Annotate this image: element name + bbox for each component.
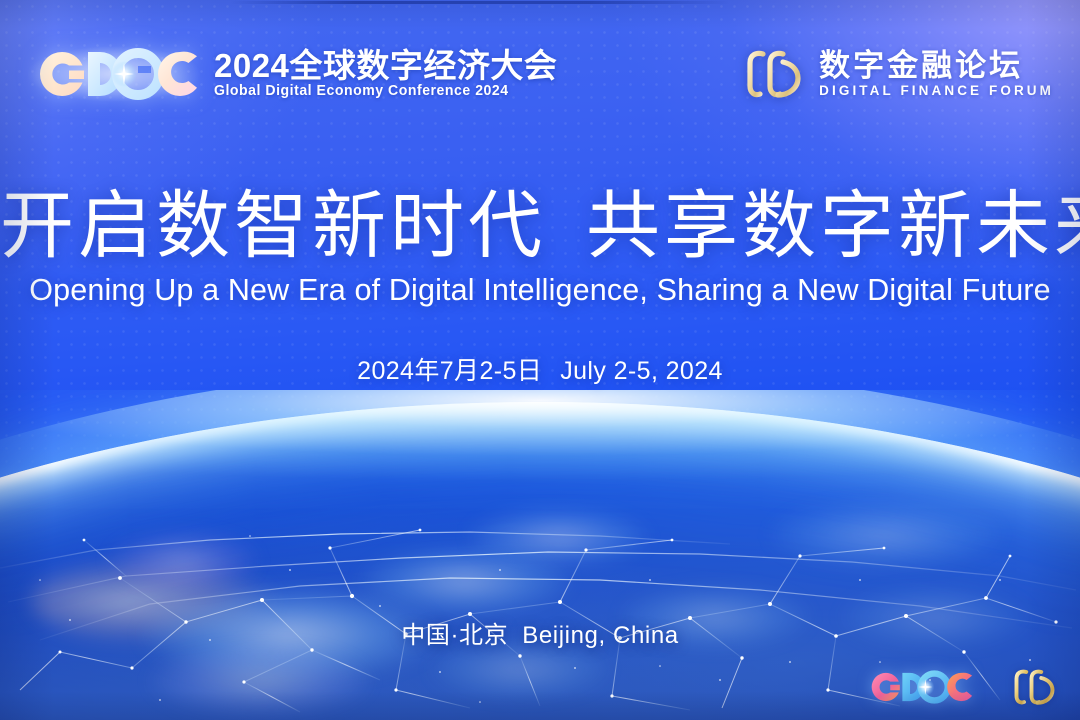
gdec-logo: 2024全球数字经济大会 Global Digital Economy Conf…: [28, 44, 557, 104]
event-date-cn: 2024年7月2-5日: [357, 357, 542, 385]
headline-block: 开启数智新时代共享数字新未来 Opening Up a New Era of D…: [0, 188, 1080, 308]
dff-wordmark: 数字金融论坛 DIGITAL FINANCE FORUM: [819, 50, 1054, 98]
event-date-en: July 2-5, 2024: [560, 357, 723, 385]
event-date: 2024年7月2-5日July 2-5, 2024: [0, 351, 1080, 387]
main-title-cn-part2: 共享数字新未来: [586, 184, 1080, 267]
ff-monogram-icon-small: [1008, 666, 1058, 708]
event-location-en: Beijing, China: [522, 622, 679, 649]
gdec-title-cn: 2024全球数字经济大会: [214, 49, 557, 82]
dff-title-en: DIGITAL FINANCE FORUM: [819, 84, 1054, 98]
main-title-cn-part1: 开启数智新时代: [0, 184, 546, 267]
gdec-logo-mark-small: [864, 667, 974, 707]
gdec-title-en: Global Digital Economy Conference 2024: [214, 84, 547, 99]
main-title-en: Opening Up a New Era of Digital Intellig…: [0, 274, 1080, 308]
footer-logos: [864, 666, 1058, 708]
gdec-logo-mark: [28, 44, 200, 104]
digital-finance-forum-logo: 数字金融论坛 DIGITAL FINANCE FORUM: [739, 46, 1054, 102]
gdec-logo-wordmark: 2024全球数字经济大会 Global Digital Economy Conf…: [214, 49, 557, 99]
ff-monogram-icon: [739, 46, 805, 102]
conference-backdrop: 2024全球数字经济大会 Global Digital Economy Conf…: [0, 0, 1080, 720]
event-location: 中国·北京Beijing, China: [0, 615, 1080, 650]
header: 2024全球数字经济大会 Global Digital Economy Conf…: [0, 0, 1080, 130]
main-title-cn: 开启数智新时代共享数字新未来: [0, 188, 1080, 265]
event-location-cn: 中国·北京: [401, 622, 508, 649]
dff-title-cn: 数字金融论坛: [819, 50, 1023, 81]
